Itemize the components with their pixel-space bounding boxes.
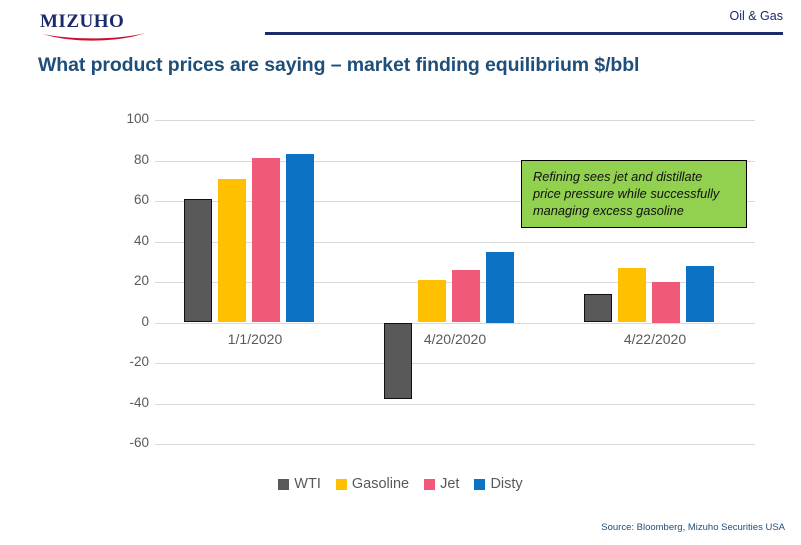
legend-item-wti[interactable]: WTI [278,476,321,492]
legend-swatch-icon [424,479,435,490]
bar-wti-1-1-2020 [184,199,212,323]
mizuho-swoosh-icon [42,32,146,43]
bar-disty-4-20-2020 [486,252,514,323]
legend-swatch-icon [474,479,485,490]
gridline [155,404,755,405]
legend-label: Disty [490,476,522,492]
y-axis-tick-label: 100 [95,111,149,126]
bar-gasoline-1-1-2020 [218,179,246,323]
section-label: Oil & Gas [730,9,784,23]
bar-gasoline-4-22-2020 [618,268,646,323]
y-axis-tick-label: 60 [95,192,149,207]
y-axis-tick-label: 0 [95,314,149,329]
legend-item-gasoline[interactable]: Gasoline [336,476,409,492]
page-title: What product prices are saying – market … [38,54,639,77]
chart-legend: WTIGasolineJetDisty [0,476,801,492]
y-axis-tick-label: -40 [95,395,149,410]
bar-gasoline-4-20-2020 [418,280,446,323]
legend-label: WTI [294,476,321,492]
callout-annotation: Refining sees jet and distillate price p… [521,160,747,228]
callout-line-2: price pressure while successfully [533,185,737,202]
logo-wordmark: MIZUHO [40,12,150,32]
bar-disty-1-1-2020 [286,154,314,322]
legend-label: Jet [440,476,459,492]
y-axis: 100806040200-20-40-60 [87,120,149,444]
gridline [155,120,755,121]
gridline [155,363,755,364]
legend-swatch-icon [336,479,347,490]
bar-jet-4-20-2020 [452,270,480,323]
x-axis-tick-label: 1/1/2020 [155,331,355,347]
bar-jet-1-1-2020 [252,158,280,322]
gridline [155,323,755,324]
callout-line-1: Refining sees jet and distillate [533,168,737,185]
legend-item-disty[interactable]: Disty [474,476,522,492]
callout-line-3: managing excess gasoline [533,202,737,219]
x-axis-tick-label: 4/22/2020 [555,331,755,347]
bar-wti-4-22-2020 [584,294,612,322]
x-axis-tick-label: 4/20/2020 [355,331,555,347]
source-note: Source: Bloomberg, Mizuho Securities USA [601,522,785,533]
header-divider [265,32,783,35]
y-axis-tick-label: 20 [95,273,149,288]
legend-item-jet[interactable]: Jet [424,476,459,492]
bar-jet-4-22-2020 [652,282,680,323]
legend-label: Gasoline [352,476,409,492]
slide-header: MIZUHO Oil & Gas [0,0,801,48]
bar-chart: 100806040200-20-40-60 1/1/20204/20/20204… [0,100,801,480]
bar-disty-4-22-2020 [686,266,714,323]
y-axis-tick-label: 80 [95,152,149,167]
y-axis-tick-label: 40 [95,233,149,248]
y-axis-tick-label: -20 [95,354,149,369]
gridline [155,444,755,445]
mizuho-logo: MIZUHO [40,12,150,44]
legend-swatch-icon [278,479,289,490]
y-axis-tick-label: -60 [95,435,149,450]
